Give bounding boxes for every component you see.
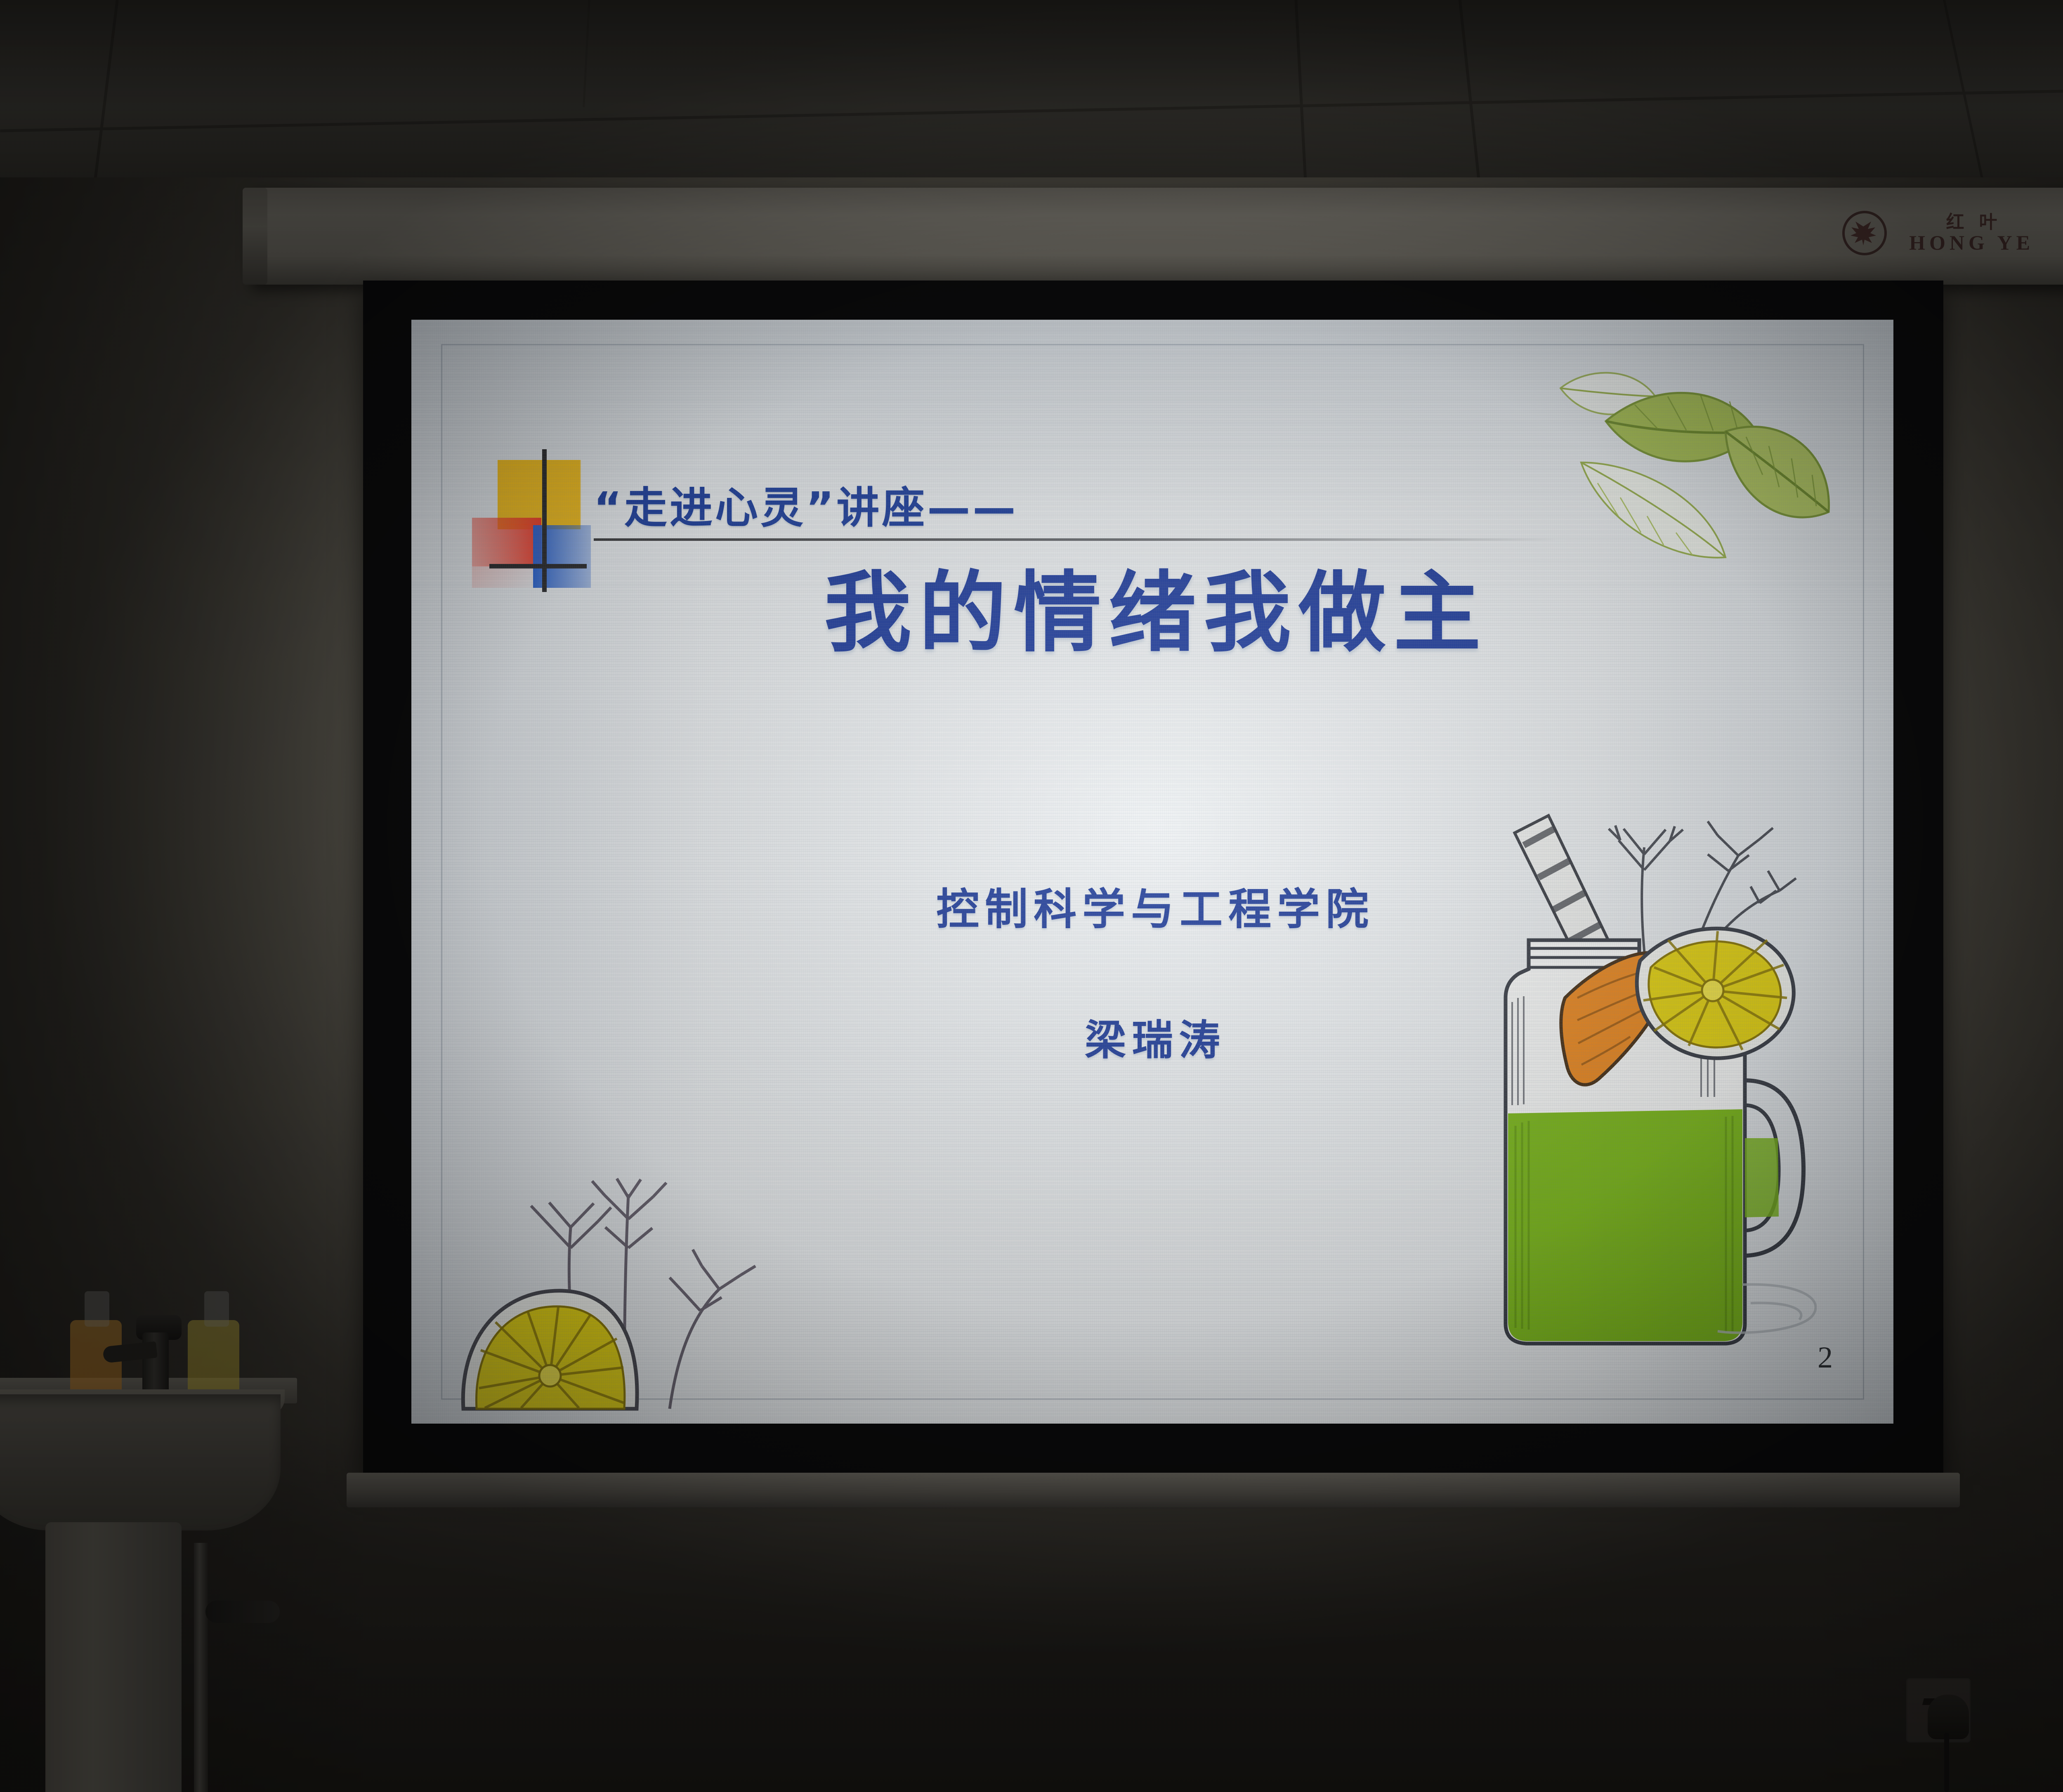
pipe-valve[interactable]	[205, 1601, 280, 1623]
housing-end-cap-left	[243, 188, 267, 285]
ceiling	[0, 0, 2063, 194]
brand-name-cn: 红叶	[1931, 213, 2012, 232]
screenshot-root: 红叶 HONG YE	[0, 0, 2063, 1792]
mondrian-yellow-soft-block	[543, 460, 581, 529]
sink-pedestal	[45, 1522, 182, 1792]
slide-kicker-block: “走进心灵”讲座——	[594, 486, 1557, 541]
screen-brand-logo: 红叶 HONG YE	[1842, 211, 2034, 255]
power-cord	[1944, 1733, 1949, 1792]
screen-brand-text: 红叶 HONG YE	[1909, 213, 2034, 254]
brand-name-en: HONG YE	[1909, 232, 2034, 254]
mondrian-horizontal-line	[489, 564, 587, 568]
lemon-slice-icon	[447, 1124, 769, 1413]
slide-title: 我的情绪我做主	[411, 569, 1894, 657]
mondrian-red-block	[472, 518, 541, 566]
slide-page-number: 2	[1818, 1340, 1833, 1375]
juice-mug-icon	[1454, 767, 1817, 1357]
screen-weight-bar	[347, 1473, 1960, 1507]
mondrian-decoration	[472, 460, 592, 588]
sink-basin	[0, 1394, 281, 1530]
soap-pump-head-left[interactable]	[85, 1291, 109, 1327]
projector-screen-housing[interactable]: 红叶 HONG YE	[252, 188, 2063, 285]
kicker-underline	[594, 538, 1557, 541]
soap-pump-head-right[interactable]	[204, 1291, 229, 1327]
maple-leaf-icon	[1842, 211, 1887, 255]
presentation-slide: “走进心灵”讲座—— 我的情绪我做主 控制科学与工程学院 梁瑞涛	[411, 320, 1894, 1424]
projection-screen[interactable]: “走进心灵”讲座—— 我的情绪我做主 控制科学与工程学院 梁瑞涛	[363, 281, 1943, 1473]
drain-pipe	[194, 1543, 208, 1792]
slide-kicker: “走进心灵”讲座——	[594, 486, 1557, 529]
power-plug[interactable]	[1928, 1695, 1969, 1739]
